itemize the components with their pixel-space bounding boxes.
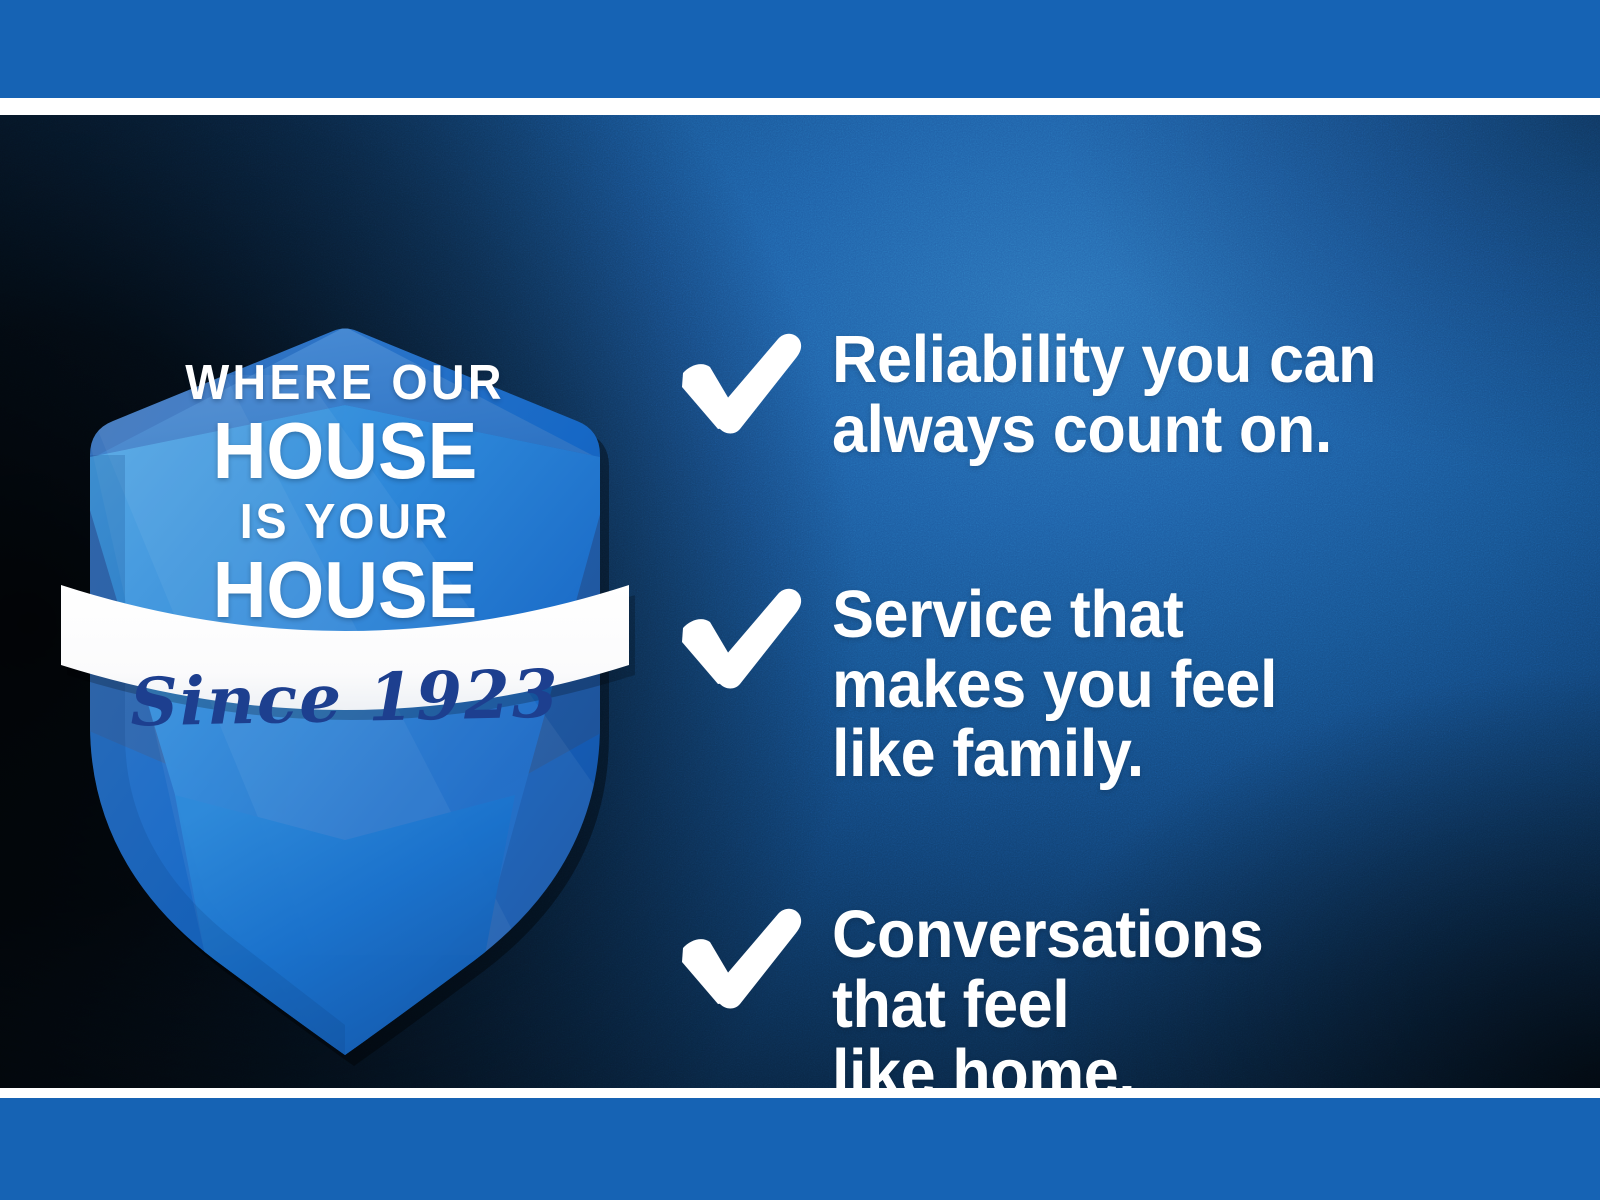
benefit-item-1: Reliability you can always count on.	[660, 325, 1411, 464]
brand-bar-top	[0, 0, 1600, 98]
check-icon	[660, 580, 810, 702]
white-divider-bottom	[0, 1088, 1600, 1098]
benefit-text-1: Reliability you can always count on.	[832, 325, 1376, 464]
brand-bar-bottom	[0, 1098, 1600, 1200]
white-divider-top	[0, 98, 1600, 115]
benefit-item-2: Service that makes you feel like family.	[660, 580, 1305, 789]
benefits-list: Reliability you can always count on. Ser…	[660, 230, 1560, 1088]
benefit-item-3: Conversations that feel like home.	[660, 900, 1291, 1088]
benefit-text-3: Conversations that feel like home.	[832, 900, 1263, 1088]
check-icon	[660, 900, 810, 1022]
company-logo: WHERE OUR HOUSE IS YOUR HOUSE Since 1923	[55, 255, 635, 945]
check-icon	[660, 325, 810, 447]
promo-poster: WHERE OUR HOUSE IS YOUR HOUSE Since 1923…	[0, 0, 1600, 1200]
poster-stage: WHERE OUR HOUSE IS YOUR HOUSE Since 1923…	[0, 115, 1600, 1088]
benefit-text-2: Service that makes you feel like family.	[832, 580, 1277, 789]
